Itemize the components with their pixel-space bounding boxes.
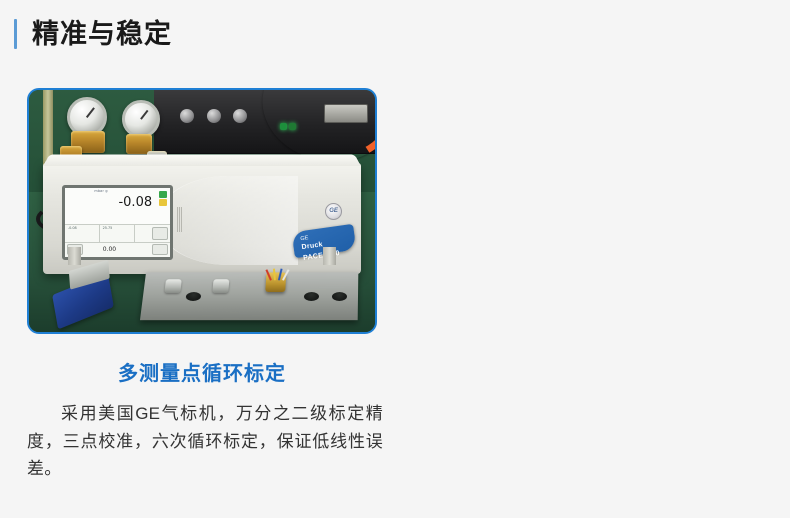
steel-manifold-block: [140, 272, 358, 320]
card-stability: 半成品稳定性测试 功能板、芯体稳定性测试，60℃高温环境12小时稳定性测试，确保…: [395, 88, 790, 483]
sensor-lead-wires: [269, 268, 287, 280]
manifold-fitting: [165, 279, 182, 293]
display-parameter-row: -0.08 25.75: [65, 224, 170, 243]
manifold-port-hole: [186, 292, 202, 301]
pace5000-instrument: mbar g -0.08 -0.08 25.75 0.00: [43, 163, 361, 274]
card-body-calibration: 采用美国GE气标机，万分之二级标定精度，三点校准，六次循环标定，保证低线性误差。: [27, 400, 383, 483]
rack-knob-icon: [233, 109, 247, 123]
display-unit-label: mbar g: [94, 189, 107, 193]
instrument-vent: [177, 207, 182, 231]
instrument-leg: [323, 247, 336, 265]
section-title: 精准与稳定: [14, 17, 172, 51]
cards-container: mbar g -0.08 -0.08 25.75 0.00: [0, 88, 790, 483]
ge-logo-icon: [325, 203, 342, 220]
manifold-fitting: [212, 279, 229, 293]
card-heading-calibration: 多测量点循环标定: [27, 357, 377, 386]
display-status-indicator: [159, 199, 167, 206]
title-accent-bar: [14, 19, 17, 49]
display-status-indicator: [159, 191, 167, 198]
display-secondary-value: 0.00: [103, 246, 116, 253]
display-cell-rate: 25.75: [100, 224, 136, 242]
photo-calibration: mbar g -0.08 -0.08 25.75 0.00: [29, 90, 375, 332]
badge-brand: GE: [300, 235, 309, 242]
page-title: 精准与稳定: [32, 19, 172, 49]
card-calibration: mbar g -0.08 -0.08 25.75 0.00: [0, 88, 395, 483]
display-menu-button[interactable]: [152, 244, 168, 255]
manifold-port-hole: [332, 292, 347, 301]
photo-frame-calibration: mbar g -0.08 -0.08 25.75 0.00: [27, 88, 377, 334]
instrument-leg: [68, 247, 81, 265]
display-main-value: -0.08: [118, 196, 152, 209]
rack-knob-icon: [180, 109, 194, 123]
manifold-port-hole: [304, 292, 319, 301]
display-main-area: mbar g -0.08: [65, 188, 170, 225]
rack-knob-icon: [207, 109, 221, 123]
display-cell-set: -0.08: [65, 224, 100, 242]
pressure-gauge-icon: [122, 100, 160, 138]
display-soft-button[interactable]: [152, 227, 168, 240]
instrument-top-panel: [43, 154, 361, 166]
lead-wire-white: [283, 269, 290, 280]
lead-wire-yellow: [274, 268, 277, 280]
